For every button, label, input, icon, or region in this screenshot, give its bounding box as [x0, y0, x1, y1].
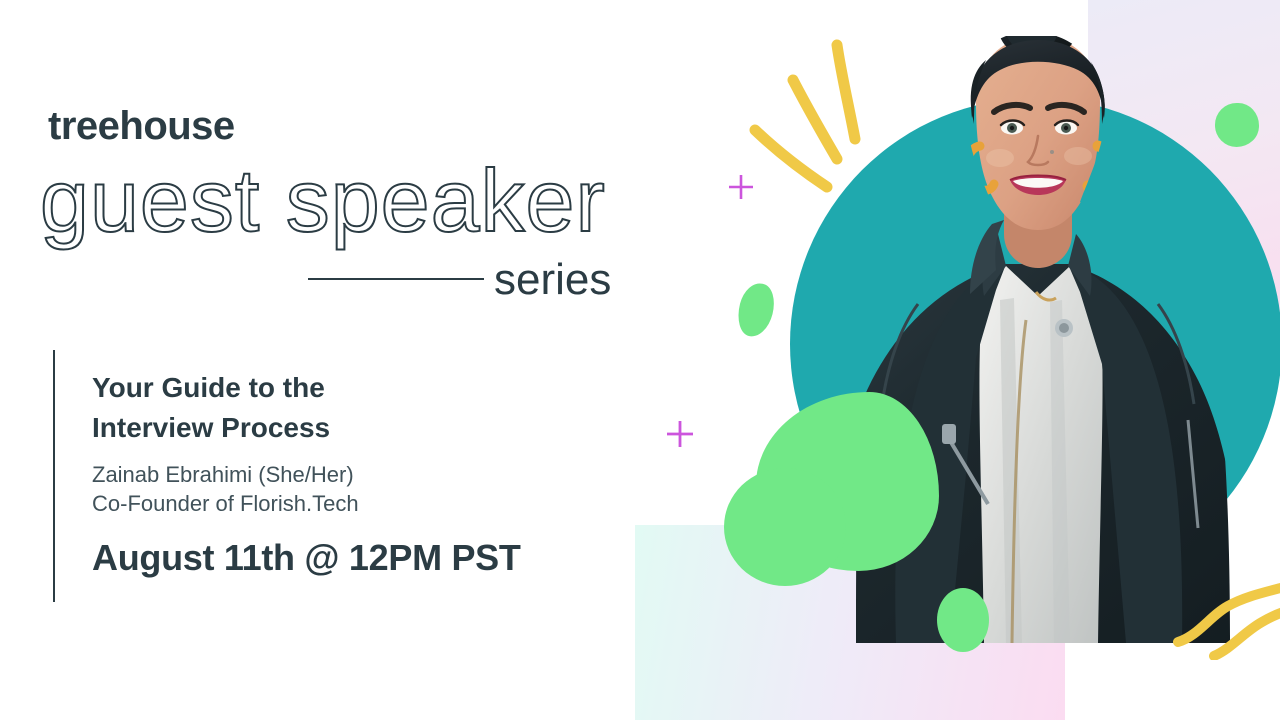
event-datetime: August 11th @ 12PM PST — [92, 537, 632, 579]
detail-accent-rule — [53, 350, 55, 602]
magenta-plus-icon — [726, 172, 756, 202]
speaker-role: Co-Founder of Florish.Tech — [92, 489, 632, 519]
series-subtitle: series — [494, 255, 611, 305]
series-title-outline: guest speaker — [40, 150, 606, 252]
speaker-name: Zainab Ebrahimi (She/Her) — [92, 460, 632, 490]
talk-detail-block: Your Guide to the Interview Process Zain… — [92, 368, 632, 579]
guest-speaker-promo-slide: treehouse guest speaker series Your Guid… — [0, 0, 1280, 720]
green-blob-shape — [733, 280, 779, 341]
series-divider-rule — [308, 278, 484, 280]
brand-name: treehouse — [48, 104, 235, 149]
talk-title: Your Guide to the Interview Process — [92, 368, 632, 448]
magenta-plus-icon — [664, 418, 696, 450]
speaker-portrait-image — [800, 28, 1270, 643]
